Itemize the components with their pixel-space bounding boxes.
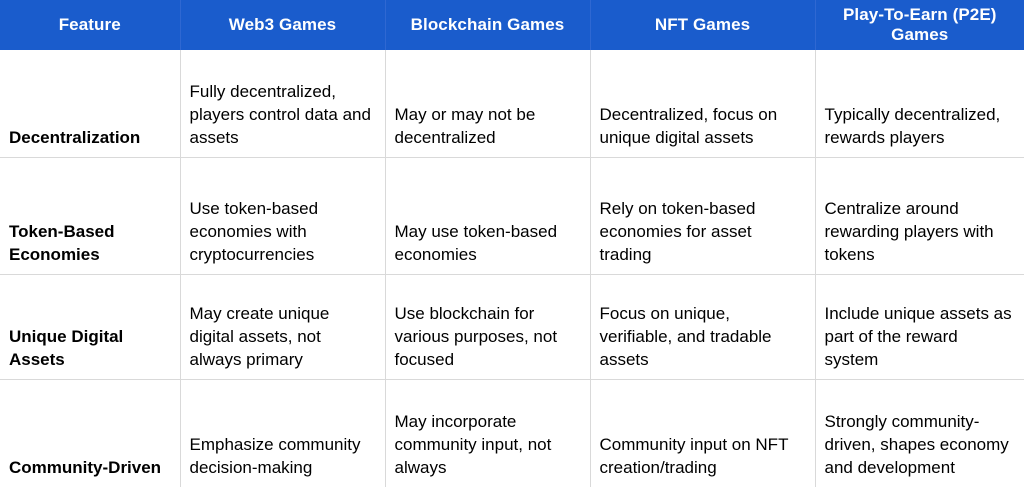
column-header-nft-games: NFT Games xyxy=(590,0,815,50)
column-header-feature: Feature xyxy=(0,0,180,50)
cell-community-driven-nft: Community input on NFT creation/trading xyxy=(590,379,815,487)
games-comparison-table: Feature Web3 Games Blockchain Games NFT … xyxy=(0,0,1024,487)
cell-decentralization-web3: Fully decentralized, players control dat… xyxy=(180,50,385,157)
column-header-p2e-games: Play-To-Earn (P2E) Games xyxy=(815,0,1024,50)
cell-unique-digital-assets-p2e: Include unique assets as part of the rew… xyxy=(815,274,1024,379)
cell-decentralization-nft: Decentralized, focus on unique digital a… xyxy=(590,50,815,157)
row-label-community-driven: Community-Driven xyxy=(0,379,180,487)
table-body: Decentralization Fully decentralized, pl… xyxy=(0,50,1024,487)
table-row: Community-Driven Emphasize community dec… xyxy=(0,379,1024,487)
cell-token-based-economies-p2e: Centralize around rewarding players with… xyxy=(815,157,1024,274)
cell-community-driven-p2e: Strongly community-driven, shapes econom… xyxy=(815,379,1024,487)
cell-unique-digital-assets-web3: May create unique digital assets, not al… xyxy=(180,274,385,379)
cell-decentralization-p2e: Typically decentralized, rewards players xyxy=(815,50,1024,157)
column-header-blockchain-games: Blockchain Games xyxy=(385,0,590,50)
header-row: Feature Web3 Games Blockchain Games NFT … xyxy=(0,0,1024,50)
row-label-unique-digital-assets: Unique Digital Assets xyxy=(0,274,180,379)
cell-community-driven-web3: Emphasize community decision-making xyxy=(180,379,385,487)
table-header: Feature Web3 Games Blockchain Games NFT … xyxy=(0,0,1024,50)
row-label-token-based-economies: Token-Based Economies xyxy=(0,157,180,274)
cell-token-based-economies-blockchain: May use token-based economies xyxy=(385,157,590,274)
table-row: Unique Digital Assets May create unique … xyxy=(0,274,1024,379)
table-row: Decentralization Fully decentralized, pl… xyxy=(0,50,1024,157)
cell-token-based-economies-web3: Use token-based economies with cryptocur… xyxy=(180,157,385,274)
cell-unique-digital-assets-blockchain: Use blockchain for various purposes, not… xyxy=(385,274,590,379)
row-label-decentralization: Decentralization xyxy=(0,50,180,157)
comparison-table-container: Feature Web3 Games Blockchain Games NFT … xyxy=(0,0,1024,487)
cell-decentralization-blockchain: May or may not be decentralized xyxy=(385,50,590,157)
cell-token-based-economies-nft: Rely on token-based economies for asset … xyxy=(590,157,815,274)
cell-unique-digital-assets-nft: Focus on unique, verifiable, and tradabl… xyxy=(590,274,815,379)
column-header-web3-games: Web3 Games xyxy=(180,0,385,50)
table-row: Token-Based Economies Use token-based ec… xyxy=(0,157,1024,274)
cell-community-driven-blockchain: May incorporate community input, not alw… xyxy=(385,379,590,487)
